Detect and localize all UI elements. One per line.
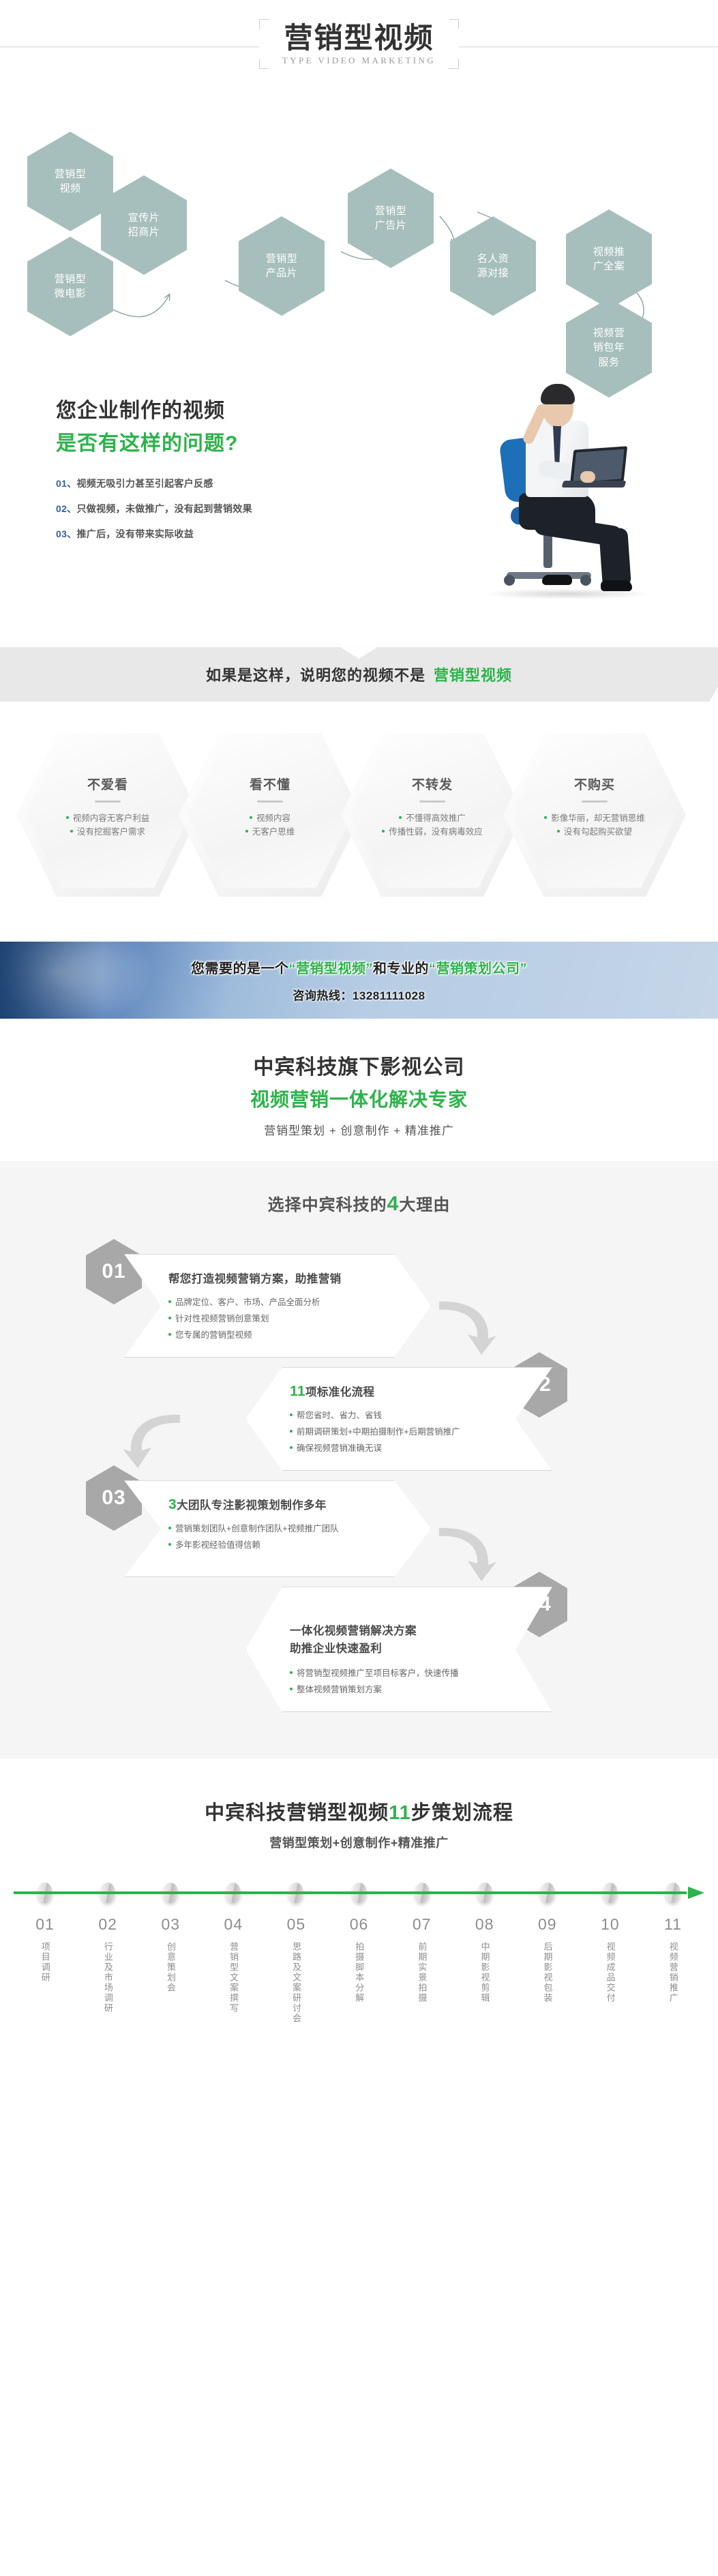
landing-page: 营销型视频 TYPE VIDEO MARKETING 营销型 视频 [0, 0, 718, 2055]
service-hex-label: 名人资 源对接 [472, 252, 515, 281]
symptom-divider [95, 800, 121, 803]
hero-section: 营销型视频 TYPE VIDEO MARKETING [0, 0, 718, 76]
service-hex-label: 营销型 产品片 [260, 252, 303, 281]
symptom-title: 不转发 [412, 775, 453, 793]
reasons-title-number: 4 [387, 1193, 400, 1215]
diagnosis-banner: 如果是这样，说明您的视频不是营销型视频 [0, 647, 718, 710]
cta-banner: 您需要的是一个“营销型视频”和专业的“营销策划公司” 咨询热线：13281111… [0, 942, 718, 1019]
problem-item-index: 01、 [56, 478, 76, 489]
flow-step-label: 中期影视剪辑 [478, 1942, 492, 2003]
service-hex-5[interactable]: 名人资 源对接 [450, 216, 536, 316]
reason-point: 帮您省时、省力、省钱 [290, 1407, 512, 1424]
corner-bracket-icon [449, 19, 459, 29]
flow-steps: 01项目调研 02行业及市场调研 03创意策划会 04营销型文案撰写 05思路及… [14, 1899, 704, 2024]
flow-subtitle: 营销型策划+创意制作+精准推广 [0, 1833, 718, 1851]
flow-title: 中宾科技营销型视频11步策划流程 [0, 1797, 718, 1825]
reason-title: 帮您打造视频营销方案，助推营销 [168, 1270, 391, 1287]
problem-subheadline: 是否有这样的问题? [56, 426, 252, 456]
flow-step-number: 03 [161, 1915, 180, 1934]
symptom-point: 不懂得高效推广 [399, 811, 466, 825]
flow-step-label: 后期影视包装 [541, 1942, 554, 2003]
problem-headline: 您企业制作的视频 [56, 393, 252, 423]
symptom-divider [257, 800, 283, 803]
flow-arrow-icon [436, 1523, 499, 1583]
service-hex-2[interactable]: 营销型 微电影 [27, 237, 113, 336]
businessman-illustration [440, 376, 665, 621]
flow-step-number: 09 [538, 1915, 557, 1934]
banner-notch-icon [341, 647, 378, 659]
flow-step-label: 创意策划会 [164, 1942, 177, 1993]
symptom-point: 无客户思维 [245, 825, 295, 839]
flow-title-b: 步策划流程 [411, 1802, 513, 1824]
flow-arrow-icon [120, 1409, 183, 1469]
service-hex-6[interactable]: 视频推 广全案 [566, 209, 652, 309]
flow-title-number: 11 [389, 1802, 411, 1824]
flow-step-number: 08 [475, 1915, 494, 1934]
problem-item-text: 推广后，没有带来实际收益 [76, 528, 194, 539]
symptom-point: 影像华丽，却无营销思维 [544, 811, 645, 825]
flow-step[interactable]: 11视频营销推广 [642, 1899, 704, 2024]
flow-title-a: 中宾科技营销型视频 [205, 1802, 389, 1824]
service-hex-label: 营销型 微电影 [49, 272, 92, 301]
symptom-card-2[interactable]: 不转发 不懂得高效推广 传播性弱，没有病毒效应 [341, 733, 524, 897]
reason-point: 确保视频营销准确无误 [290, 1440, 512, 1456]
diagnosis-banner-inner: 如果是这样，说明您的视频不是营销型视频 [0, 647, 718, 702]
symptom-point: 视频内容无客户利益 [66, 811, 150, 825]
flow-step[interactable]: 01项目调研 [14, 1899, 76, 2024]
problem-item: 02、只做视频，未做推广，没有起到营销效果 [56, 502, 252, 515]
flow-step[interactable]: 06拍摄脚本分解 [327, 1899, 390, 2024]
flow-step[interactable]: 05思路及文案研讨会 [265, 1899, 327, 2024]
reasons-title: 选择中宾科技的4大理由 [0, 1191, 718, 1216]
brand-subheadline: 视频营销一体化解决专家 [0, 1085, 718, 1112]
symptom-card-0[interactable]: 不爱看 视频内容无客户利益 没有挖掘客户需求 [16, 733, 199, 897]
problem-item-text: 视频无吸引力甚至引起客户反感 [76, 478, 213, 489]
flow-step-label: 视频成品交付 [603, 1942, 617, 2003]
problem-item-text: 只做视频，未做推广，没有起到营销效果 [76, 503, 252, 514]
reason-card-02[interactable]: 11项标准化流程 帮您省时、省力、省钱 前期调研策划+中期拍摄制作+后期营销推广… [245, 1367, 552, 1471]
flow-line [14, 1891, 687, 1894]
cta-headline: 您需要的是一个“营销型视频”和专业的“营销策划公司” [191, 957, 527, 977]
flow-step-label: 项目调研 [38, 1942, 52, 1983]
reason-number-03: 03 [86, 1465, 142, 1531]
service-hex-label: 营销型 广告片 [370, 204, 413, 233]
page-title: 营销型视频 [282, 23, 436, 53]
flow-step[interactable]: 07前期实景拍摄 [391, 1899, 453, 2024]
flow-step-number: 05 [287, 1915, 306, 1934]
flow-step-label: 行业及市场调研 [101, 1942, 115, 2013]
symptom-hex-row: 不爱看 视频内容无客户利益 没有挖掘客户需求 看不懂 视频内容 无客户思维 不转… [0, 725, 718, 923]
flow-section: 中宾科技营销型视频11步策划流程 营销型策划+创意制作+精准推广 01项目调研 … [0, 1758, 718, 2055]
flow-step[interactable]: 09后期影视包装 [516, 1899, 579, 2024]
cta-hotline[interactable]: 咨询热线：13281111028 [293, 986, 425, 1003]
flow-track [14, 1887, 704, 1899]
service-hex-cluster: 营销型 视频 宣传片 招商片 营销型 微电影 营销型 产品片 营销型 广告片 名… [0, 83, 718, 369]
symptom-card-3[interactable]: 不购买 影像华丽，却无营销思维 没有勾起购买欲望 [503, 733, 686, 897]
problem-item-index: 02、 [56, 503, 76, 514]
brand-tagline: 营销型策划 + 创意制作 + 精准推广 [0, 1121, 718, 1138]
diagnosis-prefix: 如果是这样，说明您的视频不是 [206, 667, 425, 684]
flow-step-number: 06 [350, 1915, 369, 1934]
flow-arrow-icon [436, 1296, 499, 1356]
cta-text-a: 您需要的是一个 [191, 961, 289, 976]
service-hex-4[interactable]: 营销型 广告片 [348, 168, 434, 268]
reason-card-03[interactable]: 3大团队专注影视策划制作多年 营销策划团队+创意制作团队+视频推广团队 多年影视… [124, 1480, 431, 1577]
service-hex-label: 视频推 广全案 [588, 245, 631, 274]
reasons-title-suffix: 大理由 [399, 1196, 450, 1214]
flow-step-label: 前期实景拍摄 [415, 1942, 429, 2003]
corner-bracket-icon [259, 59, 269, 69]
symptom-divider [419, 800, 445, 803]
reasons-section: 选择中宾科技的4大理由 01 帮您打造视频营销方案，助推营销 品牌定位、客户、市… [0, 1161, 718, 1758]
hero-title-wrap: 营销型视频 TYPE VIDEO MARKETING [0, 19, 718, 69]
flow-step[interactable]: 10视频成品交付 [579, 1899, 642, 2024]
symptom-point: 传播性弱，没有病毒效应 [382, 825, 483, 839]
service-hex-label: 营销型 视频 [49, 167, 92, 196]
reasons-list: 01 帮您打造视频营销方案，助推营销 品牌定位、客户、市场、产品全面分析 针对性… [0, 1239, 718, 1716]
service-hex-label: 宣传片 招商片 [123, 211, 166, 240]
problem-section: 您企业制作的视频 是否有这样的问题? 01、视频无吸引力甚至引起客户反感 02、… [0, 369, 718, 642]
cta-quote-a: “营销型视频” [289, 961, 374, 976]
flow-arrow-tip-icon [688, 1887, 704, 1899]
symptom-card-1[interactable]: 看不懂 视频内容 无客户思维 [179, 733, 361, 897]
page-subtitle: TYPE VIDEO MARKETING [282, 55, 436, 66]
flow-step-label: 视频营销推广 [666, 1942, 680, 2003]
reason-point: 前期调研策划+中期拍摄制作+后期营销推广 [290, 1424, 512, 1440]
reason-title: 11项标准化流程 [290, 1383, 512, 1400]
reason-point: 整体视频营销策划方案 [290, 1681, 512, 1698]
reason-card-01[interactable]: 帮您打造视频营销方案，助推营销 品牌定位、客户、市场、产品全面分析 针对性视频营… [124, 1254, 431, 1358]
flow-step-number: 02 [98, 1915, 117, 1934]
symptom-title: 不购买 [574, 775, 615, 793]
cta-text-b: 和专业的 [373, 961, 429, 976]
brand-section: 中宾科技旗下影视公司 视频营销一体化解决专家 营销型策划 + 创意制作 + 精准… [0, 1019, 718, 1161]
flow-step[interactable]: 03创意策划会 [139, 1899, 202, 2024]
reason-number-01: 01 [86, 1239, 142, 1304]
service-hex-label: 视频营 销包年 服务 [588, 326, 631, 370]
flow-step-label: 思路及文案研讨会 [290, 1942, 303, 2024]
flow-step-number: 10 [601, 1915, 620, 1934]
problem-list: 01、视频无吸引力甚至引起客户反感 02、只做视频，未做推广，没有起到营销效果 … [56, 477, 252, 541]
service-hex-3[interactable]: 营销型 产品片 [239, 216, 325, 316]
flow-step-number: 01 [35, 1915, 55, 1934]
reason-point: 针对性视频营销创意策划 [168, 1311, 391, 1327]
diagnosis-highlight: 营销型视频 [434, 667, 512, 684]
service-hex-1[interactable]: 宣传片 招商片 [101, 175, 187, 275]
reason-point: 您专属的营销型视频 [168, 1327, 391, 1343]
symptom-divider [582, 800, 608, 803]
reason-point: 品牌定位、客户、市场、产品全面分析 [168, 1294, 391, 1311]
problem-item: 01、视频无吸引力甚至引起客户反感 [56, 477, 252, 490]
symptom-point: 没有挖掘客户需求 [70, 825, 145, 839]
symptom-point: 视频内容 [250, 811, 290, 825]
cta-quote-b: “营销策划公司” [429, 961, 527, 976]
diagnosis-banner-text: 如果是这样，说明您的视频不是营销型视频 [206, 663, 512, 685]
hero-title-box: 营销型视频 TYPE VIDEO MARKETING [259, 19, 459, 69]
symptom-point: 没有勾起购买欲望 [557, 825, 632, 839]
reason-card-04[interactable]: 一体化视频营销解决方案 助推企业快速盈利 将营销型视频推广至项目标客户，快速传播… [245, 1587, 552, 1712]
problem-item: 03、推广后，没有带来实际收益 [56, 527, 252, 541]
flow-step-number: 04 [224, 1915, 243, 1934]
brand-headline: 中宾科技旗下影视公司 [0, 1050, 718, 1080]
flow-step-number: 11 [664, 1915, 682, 1934]
problem-copy: 您企业制作的视频 是否有这样的问题? 01、视频无吸引力甚至引起客户反感 02、… [56, 393, 252, 552]
reason-point: 将营销型视频推广至项目标客户，快速传播 [290, 1665, 512, 1681]
service-hex-0[interactable]: 营销型 视频 [27, 132, 113, 231]
flow-step-label: 营销型文案撰写 [227, 1942, 241, 2013]
reason-point: 多年影视经验值得信赖 [168, 1537, 391, 1553]
reason-title: 3大团队专注影视策划制作多年 [168, 1496, 391, 1513]
flow-step[interactable]: 04营销型文案撰写 [202, 1899, 265, 2024]
reason-title: 一体化视频营销解决方案 助推企业快速盈利 [290, 1602, 512, 1658]
symptom-title: 不爱看 [87, 775, 128, 793]
flow-step[interactable]: 08中期影视剪辑 [453, 1899, 516, 2024]
flow-step-number: 07 [413, 1915, 432, 1934]
problem-item-index: 03、 [56, 528, 76, 539]
reason-point: 营销策划团队+创意制作团队+视频推广团队 [168, 1521, 391, 1537]
flow-step-label: 拍摄脚本分解 [353, 1942, 366, 2003]
symptom-title: 看不懂 [250, 775, 290, 793]
flow-step[interactable]: 02行业及市场调研 [76, 1899, 139, 2024]
reasons-title-prefix: 选择中宾科技的 [268, 1196, 387, 1214]
